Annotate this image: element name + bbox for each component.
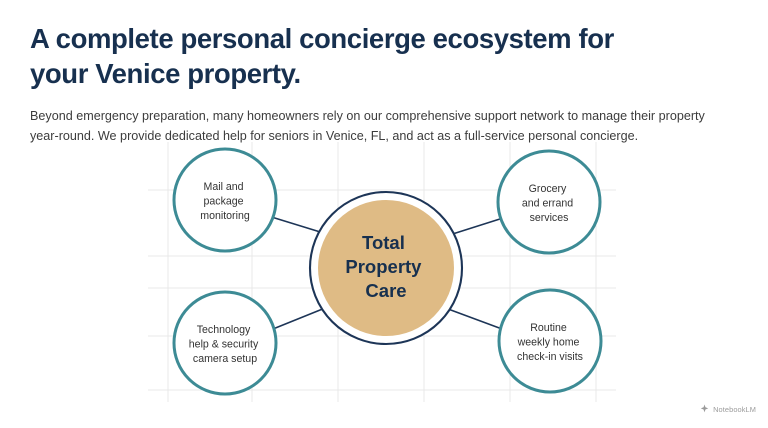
notebooklm-label: NotebookLM [713,405,756,414]
notebooklm-spark-icon [700,400,709,418]
headline-line-1: A complete personal concierge ecosystem … [30,23,614,54]
hub-and-spoke-diagram: Total Property Care Mail and package mon… [0,138,768,406]
notebooklm-watermark: NotebookLM [700,400,756,418]
hub-label-line-1: Total [362,232,405,253]
node-routine-weekly-home-check-in-visits[interactable]: Routine weekly home check-in visits [499,290,601,392]
body-line-1: Beyond emergency preparation, many homeo… [30,109,655,123]
page-title: A complete personal concierge ecosystem … [30,22,740,91]
node-label-technology-help-and-security-camera-setup: Technology help & security camera setup [189,324,261,365]
slide-canvas: A complete personal concierge ecosystem … [0,0,768,428]
connector-to-technology-help-and-security-camera-setup [268,306,330,331]
header-block: A complete personal concierge ecosystem … [30,22,740,146]
node-grocery-and-errand-services[interactable]: Grocery and errand services [498,151,600,253]
node-label-grocery-and-errand-services: Grocery and errand services [522,183,576,224]
hub-node-total-property-care[interactable]: Total Property Care [310,192,462,344]
node-mail-and-package-monitoring[interactable]: Mail and package monitoring [174,149,276,251]
node-label-mail-and-package-monitoring: Mail and package monitoring [200,181,250,222]
hub-label-line-2: Property [345,256,422,277]
headline-line-2: your Venice property. [30,58,301,89]
hub-label-line-3: Care [365,280,406,301]
node-technology-help-and-security-camera-setup[interactable]: Technology help & security camera setup [174,292,276,394]
